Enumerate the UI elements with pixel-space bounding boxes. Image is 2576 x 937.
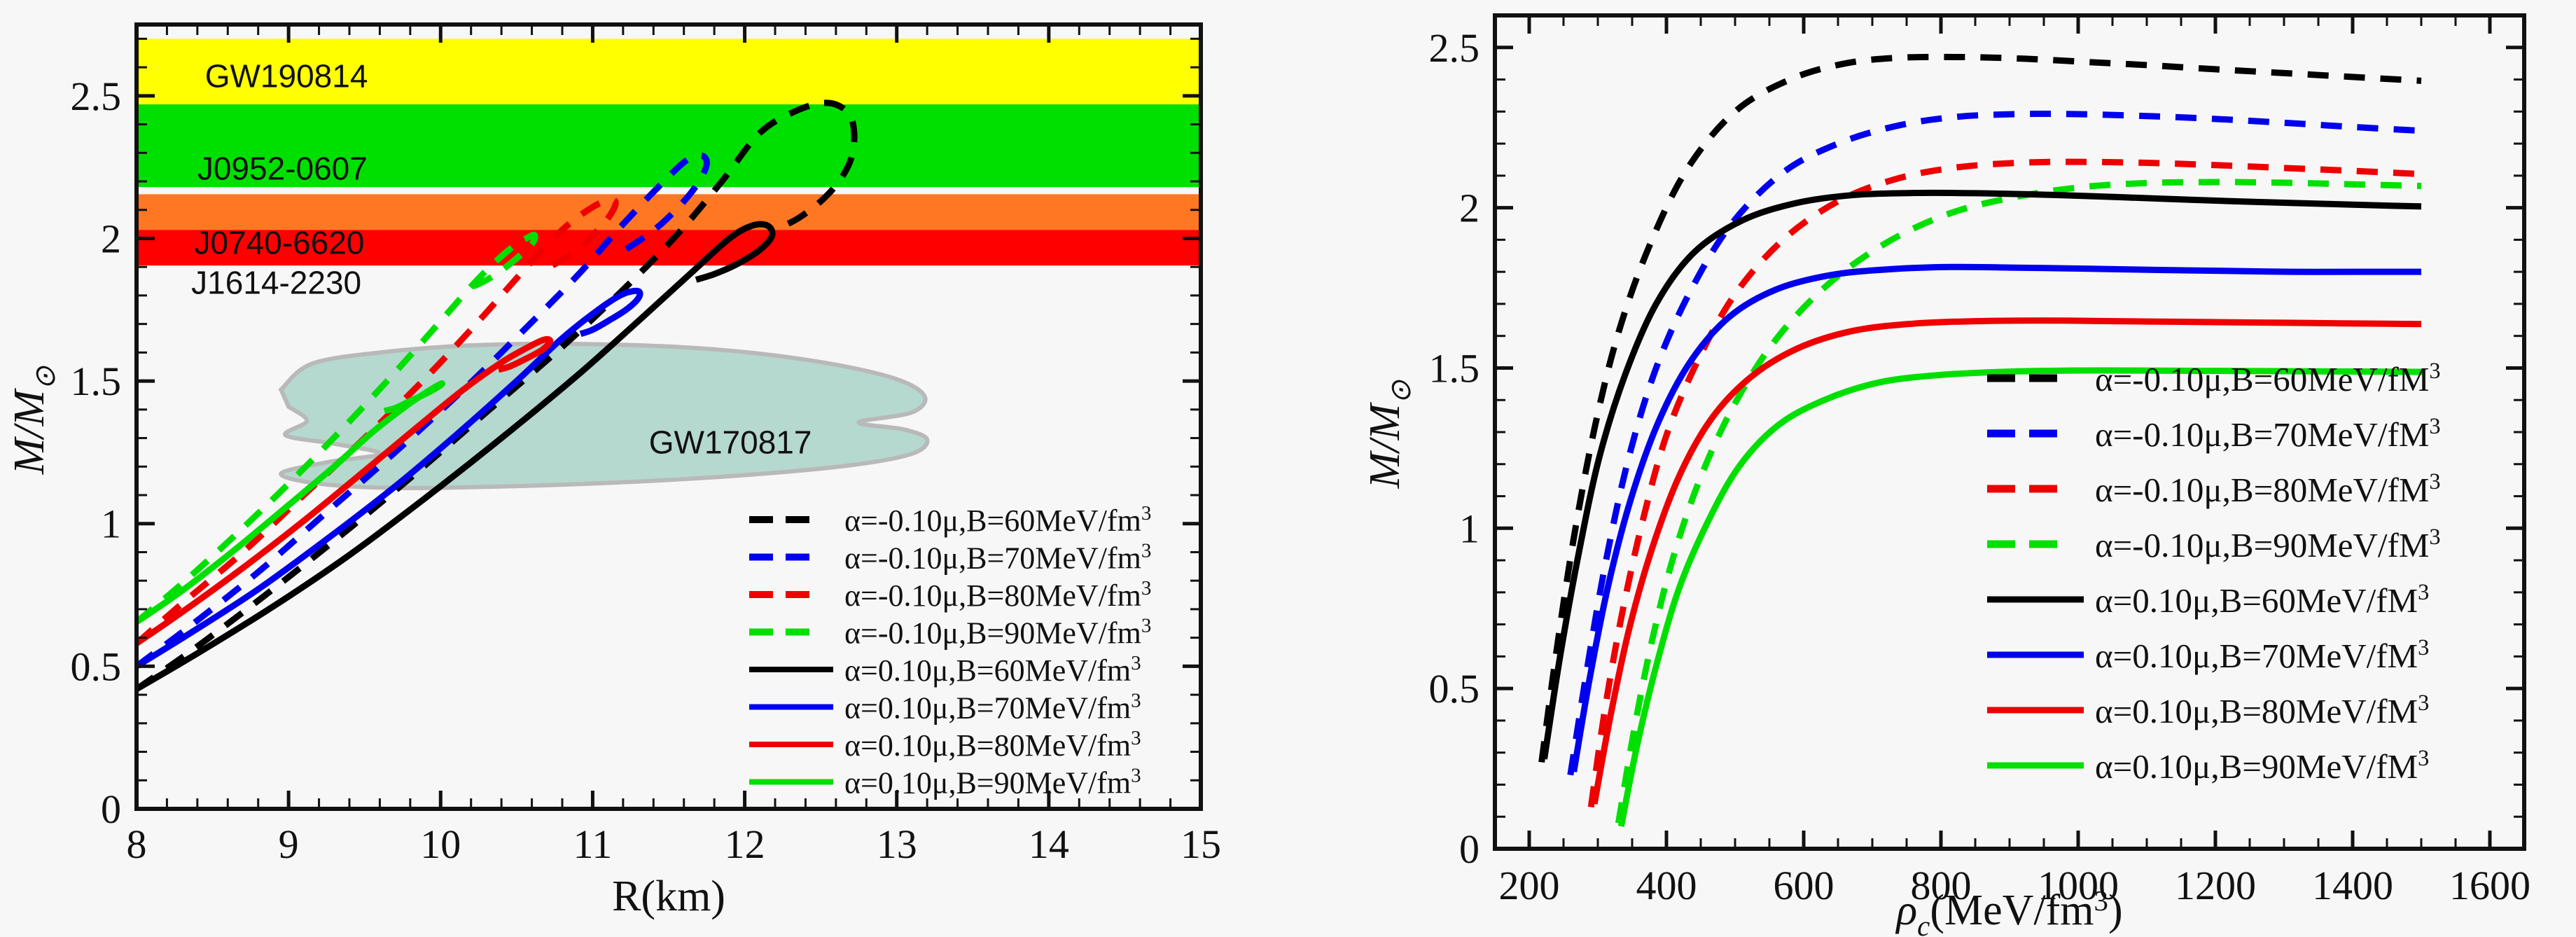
y-tick-label-2: 2 bbox=[101, 216, 121, 261]
j0740-6620-label: J0740-6620 bbox=[195, 225, 365, 261]
legend-label-text: α=0.10μ,B=90MeV/fM bbox=[2095, 747, 2418, 786]
legend-label-text: α=0.10μ,B=80MeV/fm bbox=[844, 728, 1131, 763]
legend-label-sup: 3 bbox=[2418, 634, 2429, 660]
x-tick-label-1200: 1200 bbox=[2175, 863, 2256, 908]
legend-label: α=-0.10μ,B=60MeV/fm3 bbox=[844, 502, 1151, 538]
legend-label-sup: 3 bbox=[2429, 358, 2440, 383]
legend-label: α=0.10μ,B=60MeV/fM3 bbox=[2095, 579, 2429, 620]
gw170817-label: GW170817 bbox=[649, 424, 812, 461]
mass-radius-svg: 8910111213141500.511.522.5 GW190814J0952… bbox=[0, 0, 1253, 937]
legend-label-text: α=0.10μ,B=60MeV/fM bbox=[2095, 581, 2418, 620]
gw190814-label: GW190814 bbox=[205, 57, 368, 94]
x-tick-label-9: 9 bbox=[279, 821, 299, 867]
x-title-sub: c bbox=[1917, 910, 1930, 937]
y-tick-label-1: 1 bbox=[101, 501, 121, 547]
panel-bg bbox=[1253, 0, 2576, 937]
x-tick-label-8: 8 bbox=[127, 821, 147, 867]
x-tick-label-13: 13 bbox=[877, 821, 917, 867]
legend-label-text: α=-0.10μ,B=80MeV/fm bbox=[844, 578, 1141, 613]
legend-label: α=-0.10μ,B=90MeV/fm3 bbox=[844, 615, 1151, 651]
legend-label-sup: 3 bbox=[1141, 540, 1152, 562]
y-title-msun: M bbox=[1361, 402, 1409, 441]
x-tick-label-10: 10 bbox=[420, 821, 461, 867]
legend-label: α=-0.10μ,B=60MeV/fM3 bbox=[2095, 358, 2441, 398]
y-tick-label-0.5: 0.5 bbox=[71, 644, 122, 689]
legend-label: α=-0.10μ,B=70MeV/fm3 bbox=[844, 540, 1151, 576]
legend-label-sup: 3 bbox=[1141, 502, 1152, 525]
legend-label-sup: 3 bbox=[1131, 652, 1141, 674]
j1614-2230-label: J1614-2230 bbox=[191, 265, 361, 301]
j0952-0607-label: J0952-0607 bbox=[197, 151, 368, 187]
x-tick-label-1600: 1600 bbox=[2449, 863, 2530, 908]
legend-label-text: α=-0.10μ,B=90MeV/fm bbox=[844, 616, 1141, 651]
y-title-sun: ⊙ bbox=[29, 366, 61, 390]
gw170817-contour bbox=[281, 344, 927, 488]
y-tick-label-1: 1 bbox=[1459, 506, 1480, 551]
legend-label-text: α=0.10μ,B=90MeV/fm bbox=[844, 766, 1131, 800]
x-title-close: ) bbox=[2108, 887, 2123, 934]
mass-density-svg: 200400600800100012001400160000.511.522.5… bbox=[1253, 0, 2576, 937]
figure-root: 8910111213141500.511.522.5 GW190814J0952… bbox=[0, 0, 2576, 937]
legend-label-text: α=-0.10μ,B=70MeV/fm bbox=[844, 541, 1141, 576]
legend-label-sup: 3 bbox=[1131, 690, 1141, 712]
y-tick-label-0.5: 0.5 bbox=[1429, 666, 1480, 712]
legend-label-sup: 3 bbox=[1131, 765, 1141, 787]
x-tick-label-15: 15 bbox=[1181, 821, 1221, 867]
legend-label: α=0.10μ,B=70MeV/fM3 bbox=[2095, 634, 2429, 675]
y-title-msun: M bbox=[6, 388, 53, 427]
legend-label: α=0.10μ,B=70MeV/fm3 bbox=[844, 690, 1141, 726]
mass-radius-panel: 8910111213141500.511.522.5 GW190814J0952… bbox=[0, 0, 1253, 937]
x-tick-label-12: 12 bbox=[725, 821, 765, 867]
legend-label-sup: 3 bbox=[2418, 579, 2429, 604]
x-tick-label-400: 400 bbox=[1636, 863, 1697, 908]
x-title-rho: ρ bbox=[1895, 887, 1917, 934]
y-title-m: M bbox=[1361, 450, 1409, 489]
y-tick-label-1.5: 1.5 bbox=[71, 359, 122, 404]
legend-label-text: α=0.10μ,B=60MeV/fm bbox=[844, 653, 1131, 688]
legend-label: α=0.10μ,B=90MeV/fM3 bbox=[2095, 745, 2429, 786]
legend-label: α=0.10μ,B=90MeV/fm3 bbox=[844, 765, 1141, 800]
x-tick-label-200: 200 bbox=[1499, 863, 1560, 908]
y-title-m: M bbox=[6, 436, 53, 475]
legend-label-text: α=-0.10μ,B=60MeV/fm bbox=[844, 504, 1141, 538]
y-title-sun: ⊙ bbox=[1385, 380, 1416, 404]
gw170817-region bbox=[281, 344, 927, 488]
x-tick-label-11: 11 bbox=[573, 821, 612, 867]
legend-label-text: α=0.10μ,B=70MeV/fM bbox=[2095, 637, 2418, 675]
y-tick-label-2: 2 bbox=[1459, 186, 1480, 231]
legend-label-sup: 3 bbox=[1131, 727, 1141, 749]
legend-label-text: α=-0.10μ,B=60MeV/fM bbox=[2095, 360, 2429, 398]
legend-label: α=-0.10μ,B=90MeV/fM3 bbox=[2095, 524, 2441, 564]
legend-label-sup: 3 bbox=[2429, 524, 2440, 549]
legend-label-sup: 3 bbox=[2429, 413, 2440, 438]
x-title-unit: (MeV/fm bbox=[1930, 887, 2094, 934]
mass-density-panel: 200400600800100012001400160000.511.522.5… bbox=[1253, 0, 2576, 937]
y-tick-label-0: 0 bbox=[101, 786, 121, 832]
x-axis-title: R(km) bbox=[612, 873, 725, 920]
legend-label: α=0.10μ,B=60MeV/fm3 bbox=[844, 652, 1141, 688]
x-tick-label-14: 14 bbox=[1029, 821, 1069, 867]
legend-label-sup: 3 bbox=[2418, 690, 2429, 715]
legend-label-sup: 3 bbox=[2418, 745, 2429, 770]
legend-label: α=0.10μ,B=80MeV/fm3 bbox=[844, 727, 1141, 763]
x-tick-label-600: 600 bbox=[1774, 863, 1834, 908]
legend-label-text: α=-0.10μ,B=90MeV/fM bbox=[2095, 526, 2429, 564]
legend-label-text: α=0.10μ,B=70MeV/fm bbox=[844, 691, 1131, 726]
y-tick-label-2.5: 2.5 bbox=[1429, 25, 1480, 71]
legend-label: α=-0.10μ,B=80MeV/fM3 bbox=[2095, 468, 2441, 509]
y-tick-label-2.5: 2.5 bbox=[71, 74, 122, 119]
x-tick-label-1400: 1400 bbox=[2312, 863, 2393, 908]
legend-label-text: α=-0.10μ,B=80MeV/fM bbox=[2095, 471, 2429, 509]
legend-label-sup: 3 bbox=[1141, 577, 1152, 599]
legend-label: α=0.10μ,B=80MeV/fM3 bbox=[2095, 690, 2429, 730]
legend-label: α=-0.10μ,B=80MeV/fm3 bbox=[844, 577, 1151, 613]
legend-label-text: α=-0.10μ,B=70MeV/fM bbox=[2095, 415, 2429, 454]
y-tick-label-0: 0 bbox=[1459, 826, 1480, 872]
x-title-sup: 3 bbox=[2094, 885, 2108, 917]
legend-label: α=-0.10μ,B=70MeV/fM3 bbox=[2095, 413, 2441, 454]
y-tick-label-1.5: 1.5 bbox=[1429, 345, 1480, 391]
legend-label-text: α=0.10μ,B=80MeV/fM bbox=[2095, 692, 2418, 730]
legend-label-sup: 3 bbox=[2429, 468, 2440, 494]
legend-label-sup: 3 bbox=[1141, 615, 1152, 637]
